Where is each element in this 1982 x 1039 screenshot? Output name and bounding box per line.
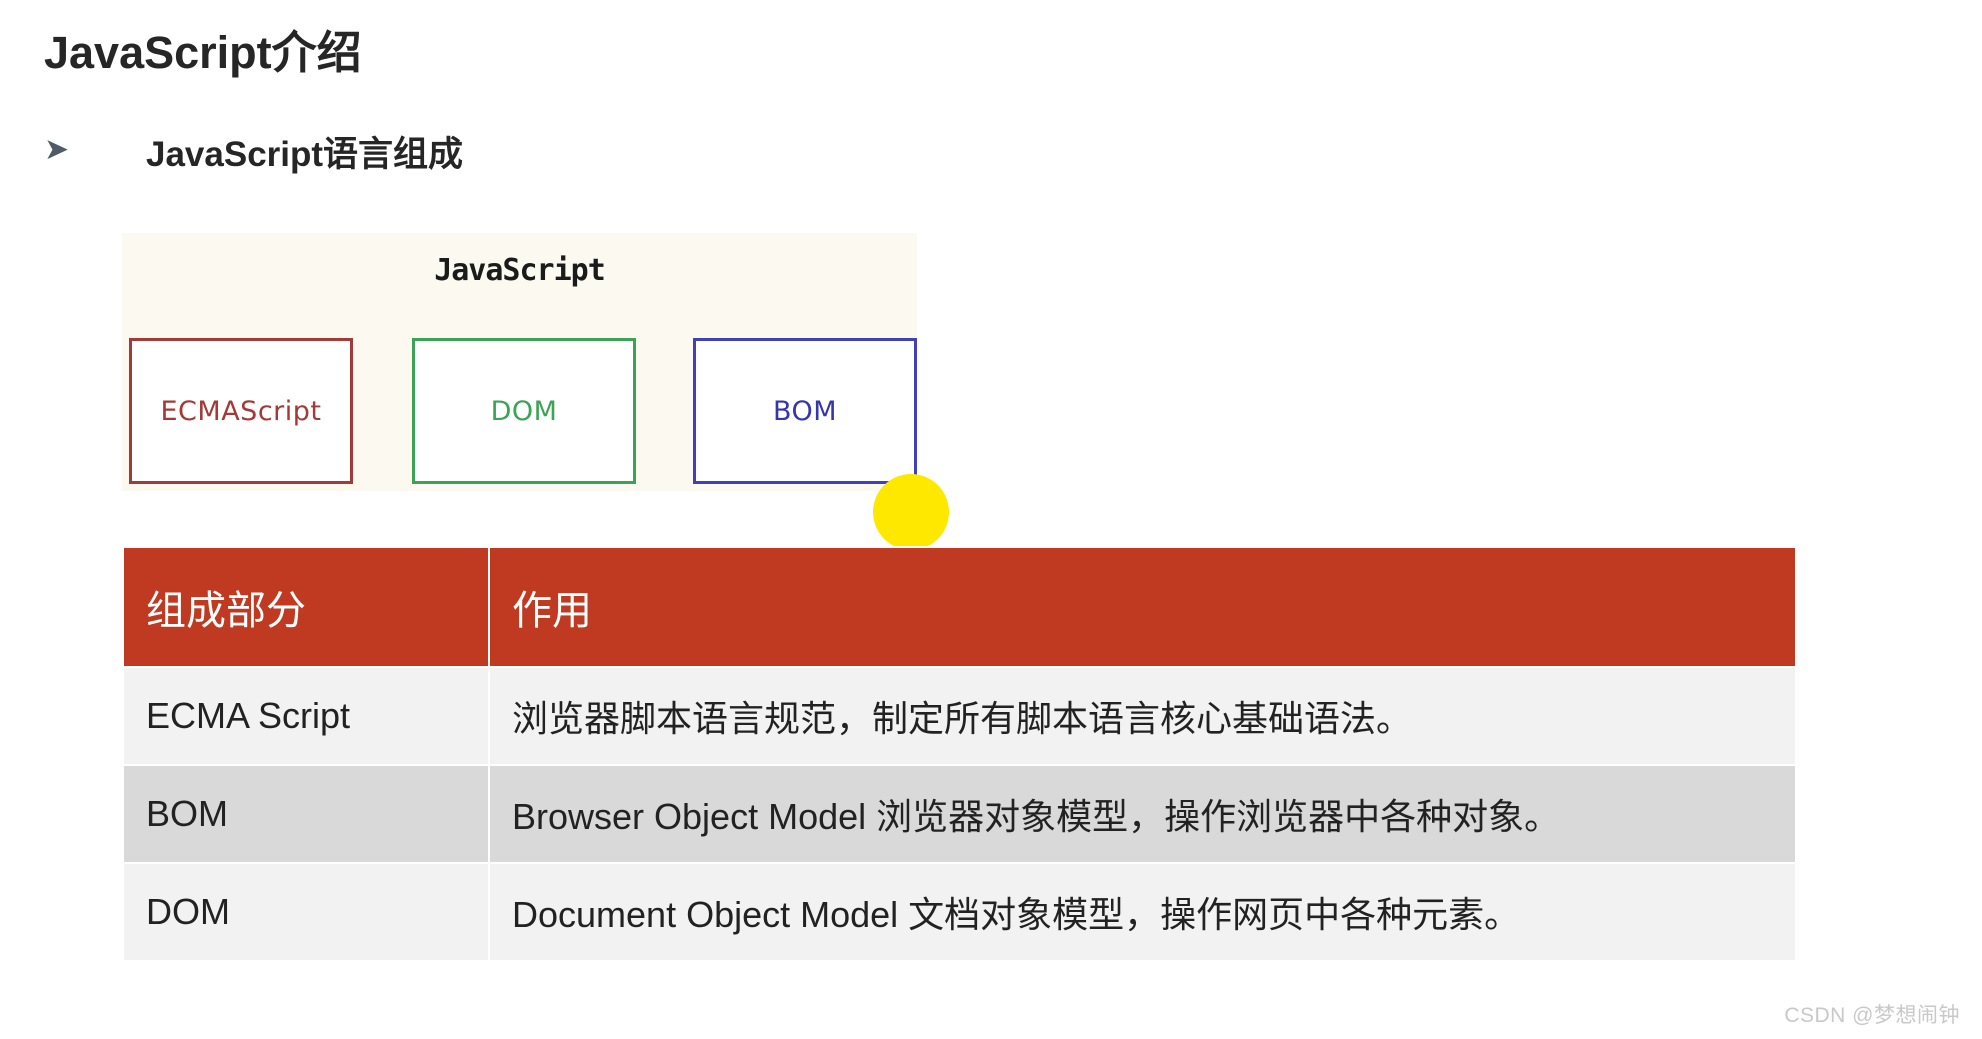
page-title: JavaScript介绍 [44, 16, 362, 81]
diagram-title: JavaScript [122, 253, 917, 288]
diagram-box-dom-label: DOM [491, 396, 558, 427]
table-header-part: 组成部分 [123, 547, 489, 667]
composition-table: 组成部分 作用 ECMA Script 浏览器脚本语言规范，制定所有脚本语言核心… [122, 546, 1797, 962]
table-cell-part: DOM [123, 863, 489, 961]
table-cell-role: 浏览器脚本语言规范，制定所有脚本语言核心基础语法。 [489, 667, 1796, 765]
table-cell-part: ECMA Script [123, 667, 489, 765]
table-cell-part: BOM [123, 765, 489, 863]
bullet-item-label: JavaScript语言组成 [146, 126, 463, 177]
table-row: ECMA Script 浏览器脚本语言规范，制定所有脚本语言核心基础语法。 [123, 667, 1796, 765]
arrow-bullet-icon: ➤ [44, 135, 88, 165]
diagram-box-ecmascript-label: ECMAScript [161, 396, 322, 427]
diagram-box-group: ECMAScript DOM BOM [129, 338, 917, 486]
diagram-box-ecmascript: ECMAScript [129, 338, 353, 484]
diagram-box-bom-label: BOM [773, 396, 837, 427]
table-header-role: 作用 [489, 547, 1796, 667]
diagram-box-bom: BOM [693, 338, 917, 484]
diagram-box-dom: DOM [412, 338, 636, 484]
click-highlight-indicator [873, 474, 949, 550]
table-row: BOM Browser Object Model 浏览器对象模型，操作浏览器中各… [123, 765, 1796, 863]
bullet-item: ➤ JavaScript语言组成 [44, 126, 463, 177]
table-header-row: 组成部分 作用 [123, 547, 1796, 667]
table-cell-role: Browser Object Model 浏览器对象模型，操作浏览器中各种对象。 [489, 765, 1796, 863]
table-row: DOM Document Object Model 文档对象模型，操作网页中各种… [123, 863, 1796, 961]
javascript-composition-diagram: JavaScript ECMAScript DOM BOM [122, 233, 917, 491]
watermark: CSDN @梦想闹钟 [1784, 999, 1960, 1029]
table-cell-role: Document Object Model 文档对象模型，操作网页中各种元素。 [489, 863, 1796, 961]
